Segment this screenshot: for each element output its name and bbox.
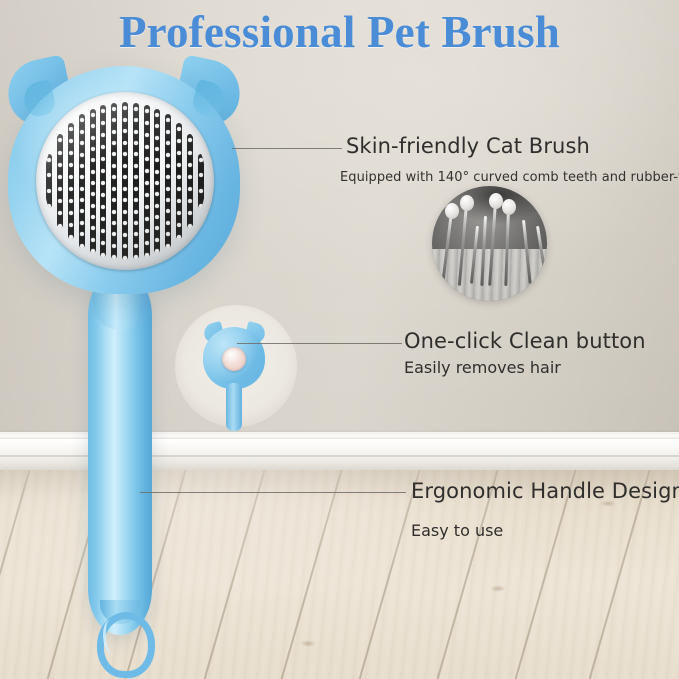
pin-dot — [58, 151, 62, 155]
pin-dot — [177, 151, 181, 155]
feature-ergonomic-handle: Ergonomic Handle Design — [411, 479, 679, 503]
pin-dot — [166, 187, 170, 191]
feature-title: One-click Clean button — [404, 329, 646, 353]
pin-dot — [91, 170, 95, 174]
pin-dot — [155, 136, 159, 140]
pin-dot — [123, 256, 127, 260]
feature-skin-friendly-subtitle: Equipped with 140° curved comb teeth and… — [340, 170, 679, 185]
pin-dot — [188, 224, 192, 228]
pin-dot — [80, 164, 84, 168]
pin-dot — [58, 163, 62, 167]
pin-dot — [80, 187, 84, 191]
pin-dot — [91, 136, 95, 140]
pin-dot — [91, 215, 95, 219]
pin-dot — [123, 164, 127, 168]
pin-dot — [112, 187, 116, 191]
pin-dot — [134, 198, 138, 202]
pin-dot — [177, 235, 181, 239]
pin-dot — [123, 141, 127, 145]
feature-title: Skin-friendly Cat Brush — [346, 134, 590, 158]
pin-dot — [145, 193, 149, 197]
pin-dot — [69, 139, 73, 143]
pin-dot — [91, 181, 95, 185]
leader-line-ergonomic-handle — [140, 492, 406, 493]
pin-dot — [145, 229, 149, 233]
feature-one-click-clean: One-click Clean button — [404, 329, 646, 353]
pin-dot — [134, 210, 138, 214]
pin-dot — [145, 109, 149, 113]
pin-dot — [123, 106, 127, 110]
one-click-clean-button[interactable] — [222, 347, 246, 371]
pin-dot — [134, 118, 138, 122]
pin-dot — [69, 187, 73, 191]
pin-dot — [145, 121, 149, 125]
pin-dot — [145, 133, 149, 137]
feature-skin-friendly: Skin-friendly Cat Brush — [346, 134, 590, 158]
pin-dot — [123, 233, 127, 237]
pin-slot — [46, 154, 52, 208]
pin-dot — [145, 169, 149, 173]
pin-dot — [134, 141, 138, 145]
pin-dot — [134, 221, 138, 225]
leader-line-skin-friendly — [232, 148, 342, 149]
floor-knot — [490, 585, 506, 592]
pin-dot — [155, 249, 159, 253]
pin-dot — [188, 175, 192, 179]
pin-dot — [80, 141, 84, 145]
callout-photo-clean-button — [175, 305, 297, 427]
pin-dot — [80, 244, 84, 248]
pin-dot — [166, 244, 170, 248]
pin-slot — [79, 114, 85, 247]
rubber-tip — [445, 203, 459, 219]
pin-dot — [80, 130, 84, 134]
pin-dot — [177, 163, 181, 167]
pin-pad-slots — [44, 100, 206, 262]
pin-dot — [134, 130, 138, 134]
pin-dot — [134, 107, 138, 111]
pin-dot — [199, 158, 203, 162]
pin-dot — [177, 139, 181, 143]
pin-dot — [134, 164, 138, 168]
pin-dot — [145, 157, 149, 161]
pin-dot — [80, 198, 84, 202]
pin-dot — [145, 145, 149, 149]
pin-dot — [166, 221, 170, 225]
pin-pad — [36, 92, 214, 270]
pin-dot — [188, 151, 192, 155]
pin-dot — [112, 210, 116, 214]
pin-dot — [91, 158, 95, 162]
pin-dot — [69, 127, 73, 131]
pin-dot — [145, 253, 149, 257]
pin-dot — [123, 210, 127, 214]
feature-title: Ergonomic Handle Design — [411, 479, 679, 503]
leader-line-one-click-clean — [237, 343, 402, 344]
pin-dot — [91, 249, 95, 253]
pin-dot — [177, 127, 181, 131]
pin-dot — [69, 175, 73, 179]
pin-dot — [123, 118, 127, 122]
pin-dot — [112, 130, 116, 134]
pin-dot — [91, 113, 95, 117]
pin-dot — [91, 238, 95, 242]
pin-dot — [199, 204, 203, 208]
pin-dot — [91, 124, 95, 128]
pin-dot — [145, 205, 149, 209]
pin-dot — [80, 232, 84, 236]
pin-dot — [199, 173, 203, 177]
pin-dot — [177, 187, 181, 191]
pin-dot — [112, 107, 116, 111]
pin-dot — [58, 224, 62, 228]
pin-dot — [47, 204, 51, 208]
pin-dot — [69, 235, 73, 239]
vignette-handle — [226, 383, 242, 431]
pin-dot — [69, 151, 73, 155]
callout-photo-comb-teeth — [432, 186, 547, 301]
pin-dot — [188, 163, 192, 167]
pin-slot — [165, 114, 171, 247]
pin-dot — [177, 175, 181, 179]
pin-dot — [145, 181, 149, 185]
pin-dot — [91, 147, 95, 151]
pin-dot — [112, 255, 116, 259]
feature-one-click-clean-subtitle: Easily removes hair — [404, 358, 561, 377]
floor-knot — [300, 640, 316, 647]
pin-dot — [69, 163, 73, 167]
rubber-tip — [460, 195, 474, 211]
pin-dot — [80, 153, 84, 157]
rubber-tip — [489, 193, 503, 209]
pin-dot — [80, 221, 84, 225]
pin-dot — [199, 189, 203, 193]
pin-dot — [188, 187, 192, 191]
pin-dot — [166, 153, 170, 157]
pin-dot — [134, 187, 138, 191]
pin-dot — [145, 241, 149, 245]
pin-dot — [101, 253, 105, 257]
product-infographic: Professional Pet Brush Skin-friendl — [0, 0, 679, 679]
feature-ergonomic-handle-subtitle: Easy to use — [411, 521, 503, 540]
pin-dot — [123, 187, 127, 191]
pin-slot — [198, 154, 204, 208]
pin-dot — [134, 244, 138, 248]
pin-dot — [145, 217, 149, 221]
pin-dot — [91, 204, 95, 208]
rubber-tip — [502, 199, 516, 215]
